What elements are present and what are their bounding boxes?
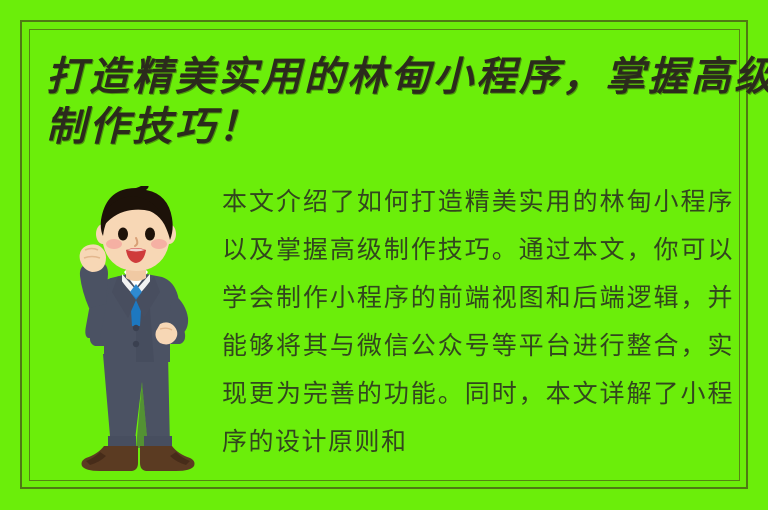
title-line-2: 制作技巧！ (46, 102, 736, 152)
poster-canvas: 打造精美实用的林甸小程序，掌握高级 制作技巧！ 本文介绍了如何打造精美实用的林甸… (0, 0, 768, 510)
right-blush (151, 239, 167, 249)
poster-title: 打造精美实用的林甸小程序，掌握高级 制作技巧！ (46, 52, 736, 152)
left-eye (118, 228, 128, 241)
left-blush (106, 239, 122, 249)
trousers-group (103, 354, 172, 450)
businessman-illustration (56, 186, 216, 480)
shoes-group (82, 446, 195, 471)
head-group (96, 186, 176, 271)
right-eye (145, 228, 155, 241)
poster-body-text: 本文介绍了如何打造精美实用的林甸小程序以及掌握高级制作技巧。通过本文，你可以学会… (222, 178, 734, 466)
title-line-1: 打造精美实用的林甸小程序，掌握高级 (46, 52, 736, 102)
